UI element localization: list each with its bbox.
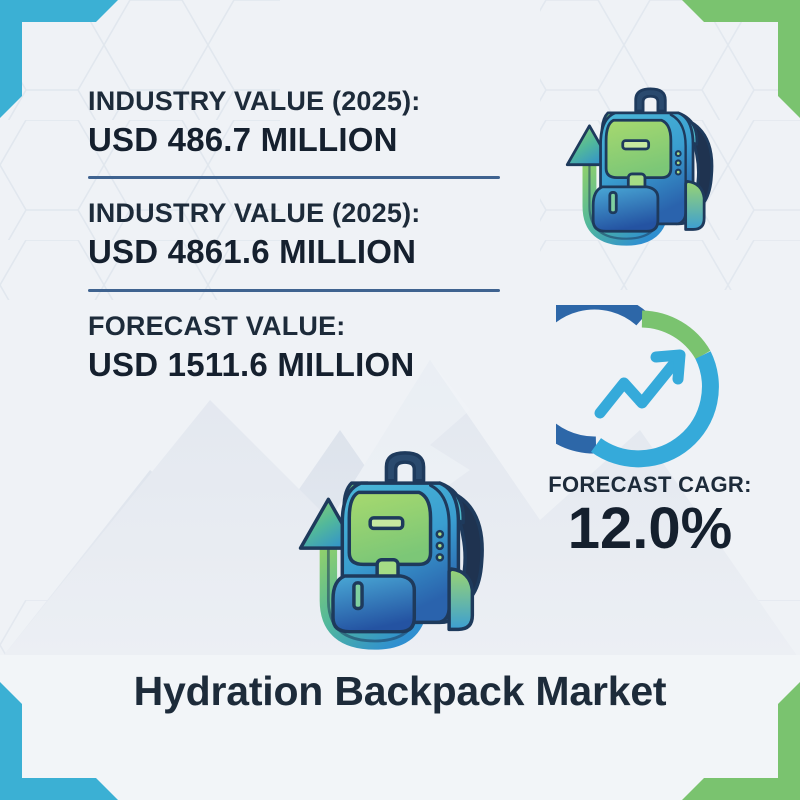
donut-segment-cyan	[596, 355, 710, 459]
statistics-column: INDUSTRY VALUE (2025): USD 486.7 MILLION…	[88, 86, 508, 384]
stat-value: USD 1511.6 MILLION	[88, 345, 508, 385]
stat-block-forecast-value: FORECAST VALUE: USD 1511.6 MILLION	[88, 311, 508, 384]
infographic-canvas: INDUSTRY VALUE (2025): USD 486.7 MILLION…	[0, 0, 800, 800]
backpack-growth-icon-small	[558, 72, 743, 262]
stat-value: USD 4861.6 MILLION	[88, 232, 508, 272]
stat-value: USD 486.7 MILLION	[88, 120, 508, 160]
donut-segment-dark-blue	[556, 305, 642, 445]
stat-block-industry-value-2: INDUSTRY VALUE (2025): USD 4861.6 MILLIO…	[88, 198, 508, 271]
stat-label: INDUSTRY VALUE (2025):	[88, 198, 508, 230]
stat-label: INDUSTRY VALUE (2025):	[88, 86, 508, 118]
backpack-growth-icon-large	[280, 432, 530, 670]
page-title: Hydration Backpack Market	[0, 668, 800, 715]
donut-segment-green	[642, 319, 703, 355]
forecast-cagr-block: FORECAST CAGR: 12.0%	[520, 472, 780, 558]
growth-donut-chart-icon	[556, 305, 728, 477]
divider-1	[88, 176, 500, 179]
stat-block-industry-value-1: INDUSTRY VALUE (2025): USD 486.7 MILLION	[88, 86, 508, 159]
cagr-label: FORECAST CAGR:	[520, 472, 780, 498]
trending-up-arrow-icon	[600, 355, 680, 413]
cagr-value: 12.0%	[520, 500, 780, 558]
stat-label: FORECAST VALUE:	[88, 311, 508, 343]
divider-2	[88, 289, 500, 292]
